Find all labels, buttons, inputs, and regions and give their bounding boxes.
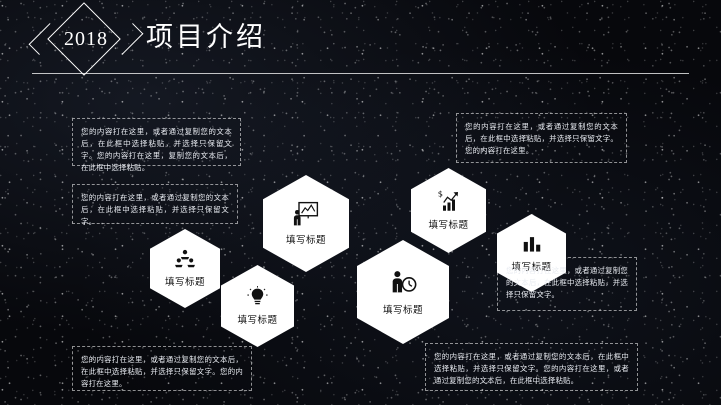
note-bottom-right[interactable]: 您的内容打在这里，或者通过复制您的文本后，在此框中选择粘贴，并选择只保留文字。您… — [425, 343, 638, 391]
note-mid-right[interactable]: 您的内容打在这里，或者通过复制您的文本后，在此框中选择粘贴，并选择只保留文字。 — [497, 257, 637, 311]
hex-growth-label: 填写标题 — [428, 221, 468, 231]
team-people-icon — [174, 248, 196, 275]
hex-team-label: 填写标题 — [165, 278, 205, 288]
page-title: 项目介绍 — [146, 15, 266, 54]
note-bottom-left[interactable]: 您的内容打在这里，或者通过复制您的文本后，在此框中选择粘贴，并选择只保留文字。您… — [72, 346, 252, 391]
hex-idea-label: 填写标题 — [237, 316, 277, 326]
person-clock-icon — [388, 268, 418, 303]
hex-presentation-label: 填写标题 — [286, 236, 326, 246]
bar-chart-icon — [521, 233, 543, 260]
slide-header: 2018 项目介绍 — [0, 0, 721, 86]
note-top-left[interactable]: 您的内容打在这里，或者通过复制您的文本后，在此框中选择粘贴，并选择只保留文字。您… — [72, 118, 241, 166]
hex-time-label: 填写标题 — [383, 306, 423, 316]
note-top-right[interactable]: 您的内容打在这里，或者通过复制您的文本后，在此框中选择粘贴，并选择只保留文字。您… — [456, 113, 627, 163]
svg-text:$: $ — [437, 189, 442, 199]
lightbulb-icon — [246, 285, 269, 313]
header-divider — [32, 73, 689, 74]
slide-root: 2018 项目介绍 填写标题 $ — [0, 0, 721, 405]
note-mid-left[interactable]: 您的内容打在这里，或者通过复制您的文本后，在此框中选择粘贴，并选择只保留文字。 — [72, 184, 238, 224]
growth-chart-icon: $ — [437, 189, 461, 218]
year-badge: 2018 — [32, 11, 140, 67]
year-label: 2018 — [32, 11, 140, 67]
presentation-board-icon — [292, 200, 320, 233]
